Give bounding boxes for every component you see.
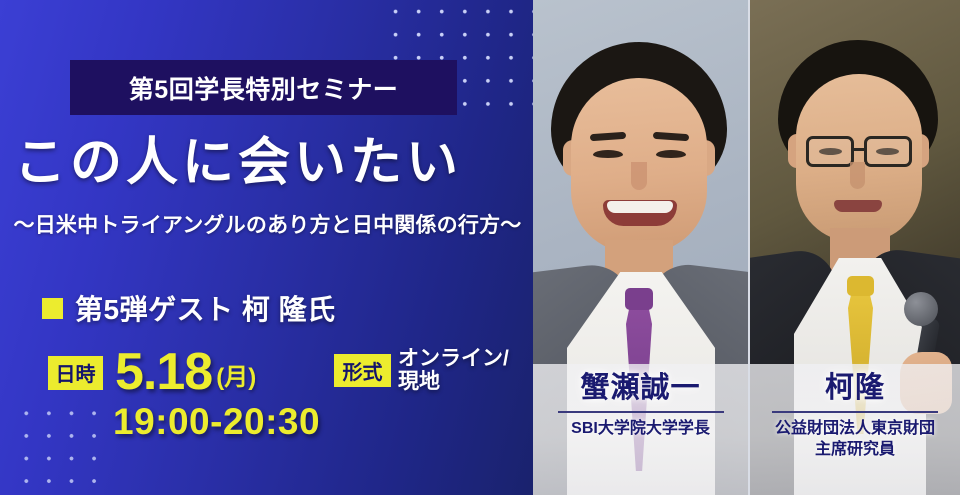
nameplate-divider xyxy=(558,411,724,413)
date-badge: 日時 xyxy=(48,356,103,390)
date-info: 日時 5.18 (月) xyxy=(48,349,256,397)
ribbon-label: 第5回学長特別セミナー xyxy=(129,70,398,106)
poster-text-column: 第5回学長特別セミナー この人に会いたい 〜日米中トライアングルのあり方と日中関… xyxy=(0,0,533,495)
format-value: オンライン/現地 xyxy=(398,348,509,393)
date-day-of-week: (月) xyxy=(216,357,256,392)
date-value: 5.18 xyxy=(115,349,212,397)
speaker-title: 公益財団法人東京財団 主席研究員 xyxy=(775,419,935,460)
speaker-photo-2: 柯隆 公益財団法人東京財団 主席研究員 xyxy=(748,0,960,495)
speaker-photo-1: 蟹瀬誠一 SBI大学院大学学長 xyxy=(533,0,748,495)
speaker-title-line-1: 公益財団法人東京財団 xyxy=(775,420,935,437)
speaker-nameplate-1: 蟹瀬誠一 SBI大学院大学学長 xyxy=(533,364,748,495)
speaker-nameplate-2: 柯隆 公益財団法人東京財団 主席研究員 xyxy=(750,364,960,495)
guest-label: 第5弾ゲスト 柯 隆氏 xyxy=(75,288,336,328)
eyeglasses-icon xyxy=(806,136,854,167)
seminar-poster: 第5回学長特別セミナー この人に会いたい 〜日米中トライアングルのあり方と日中関… xyxy=(0,0,960,495)
speaker-name: 蟹瀬誠一 xyxy=(580,373,700,404)
speaker-title-line-2: 主席研究員 xyxy=(815,441,895,458)
format-info: 形式 オンライン/現地 xyxy=(334,348,509,393)
poster-headline: この人に会いたい xyxy=(14,137,524,189)
guest-announcement: 第5弾ゲスト 柯 隆氏 xyxy=(42,288,336,328)
square-bullet-icon xyxy=(42,298,63,319)
poster-subheadline: 〜日米中トライアングルのあり方と日中関係の行方〜 xyxy=(10,214,525,237)
nameplate-divider xyxy=(772,411,938,413)
format-badge: 形式 xyxy=(334,354,391,387)
speaker-name: 柯隆 xyxy=(825,373,885,404)
time-range: 19:00-20:30 xyxy=(113,401,320,443)
seminar-ribbon: 第5回学長特別セミナー xyxy=(70,60,457,115)
speaker-title: SBI大学院大学学長 xyxy=(571,419,710,439)
speaker-photos: 蟹瀬誠一 SBI大学院大学学長 xyxy=(533,0,960,495)
